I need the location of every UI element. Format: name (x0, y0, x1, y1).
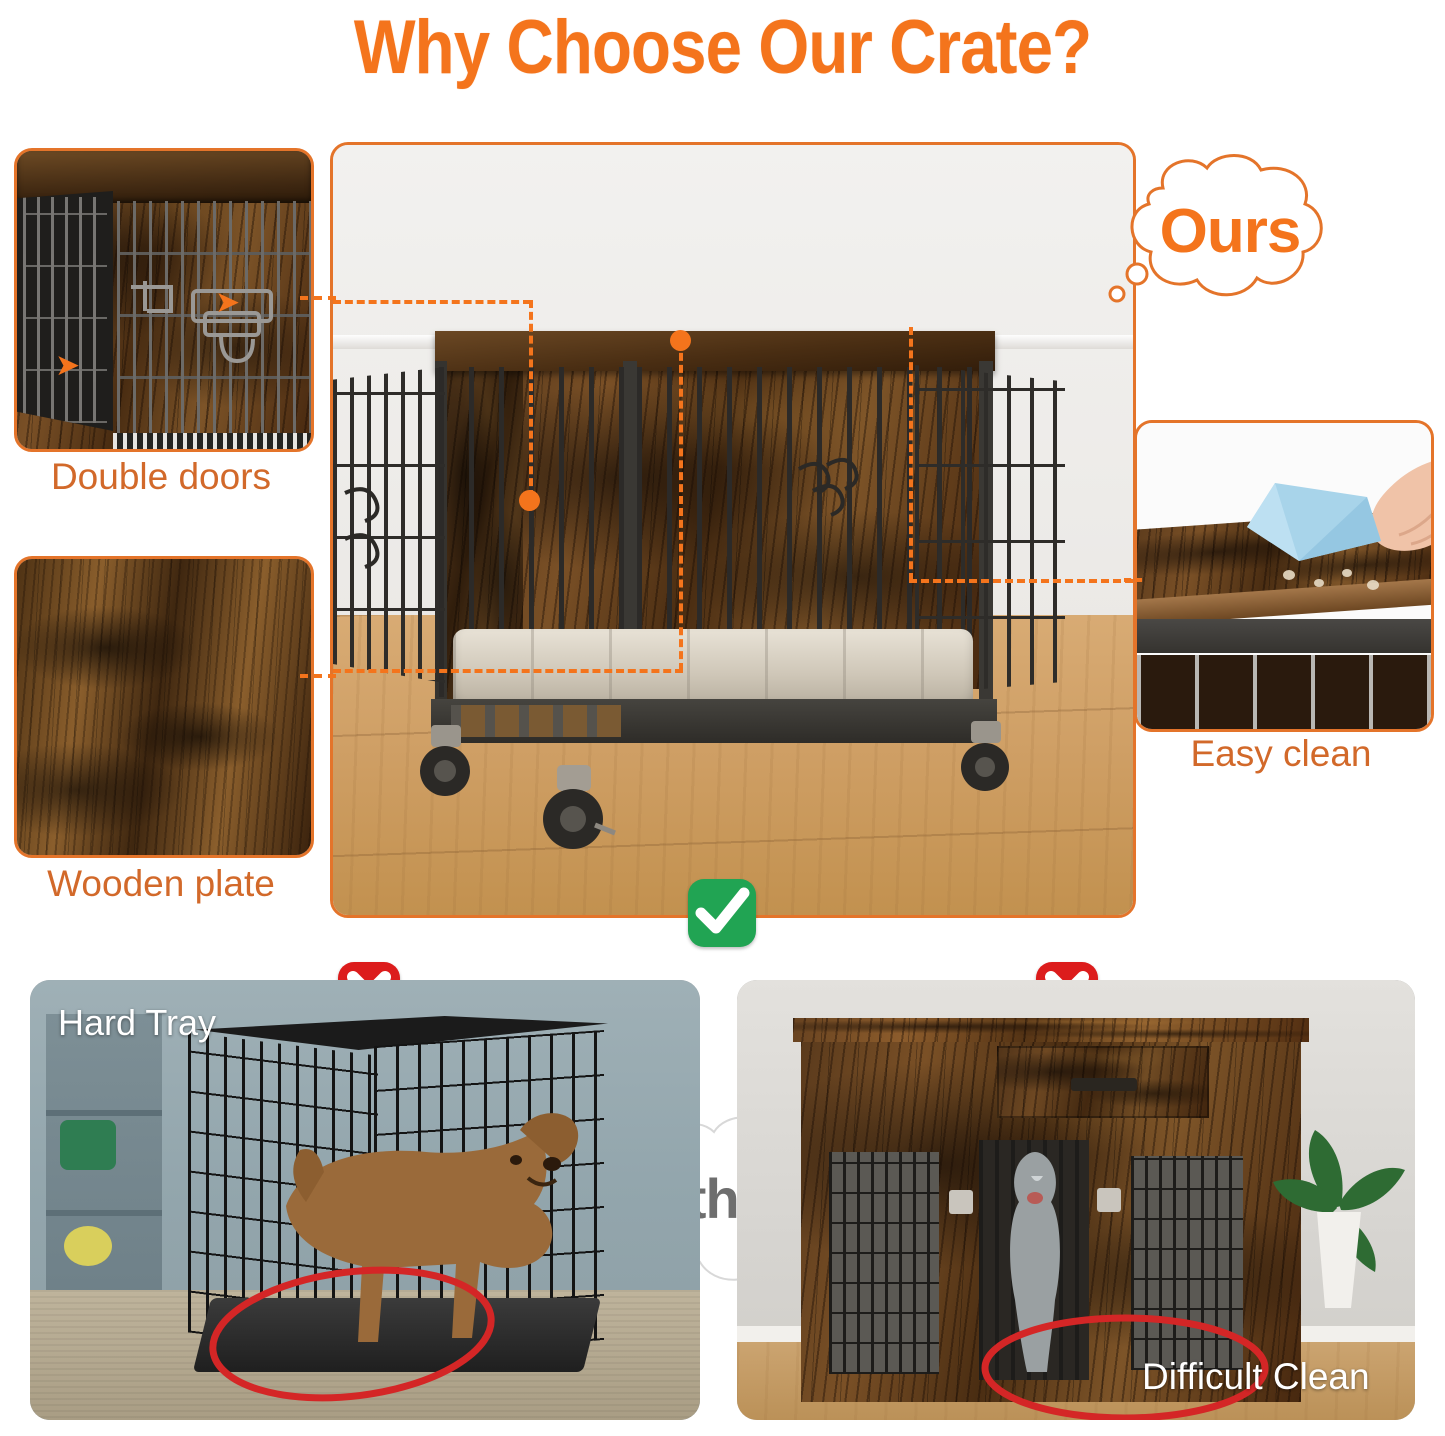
wood-grain-texture (17, 559, 311, 855)
ours-bubble-label: Ours (1140, 196, 1320, 267)
green-check-badge (688, 879, 756, 947)
frame-rail (1137, 619, 1431, 653)
connector-wooden-plate-link (300, 674, 336, 678)
connector-top-vertical (529, 300, 533, 498)
label-hard-tray: Hard Tray (58, 1002, 216, 1044)
left-door-mesh (23, 197, 107, 423)
left-door-frame (17, 191, 113, 431)
left-open-door (333, 367, 445, 683)
latch-hook-icon (125, 277, 195, 321)
caption-wooden-plate: Wooden plate (8, 862, 314, 906)
drawer-handle-icon (1071, 1078, 1137, 1091)
feature-panel-easy-clean (1134, 420, 1434, 732)
caption-easy-clean: Easy clean (1128, 732, 1434, 776)
cabinet-drawer (997, 1046, 1209, 1118)
connector-dot-door (519, 490, 540, 511)
pointer-arrow-right-icon: ➤ (215, 288, 240, 318)
shelf-unit (46, 1014, 162, 1324)
feature-panel-double-doors: ➤ ➤ (14, 148, 314, 452)
left-door-mesh (829, 1152, 939, 1374)
shelf-item-flower (64, 1226, 112, 1266)
comparison-panel-wood-cabinet (737, 980, 1415, 1420)
comparison-panel-wire-crate (30, 980, 700, 1420)
lower-grate (1137, 655, 1431, 729)
shelf-divider (46, 1210, 162, 1216)
connector-double-doors-link (300, 296, 336, 300)
connector-bottom-horizontal (333, 669, 683, 673)
cleaning-cloth-icon (1241, 475, 1391, 571)
water-droplets-icon (1277, 565, 1397, 599)
crate-assembly (375, 331, 995, 761)
connector-right-horizontal (909, 579, 1133, 583)
hinge-icon (1097, 1188, 1121, 1212)
front-door-frame (117, 201, 311, 441)
right-latch-hooks-icon (789, 449, 879, 529)
red-ellipse-annotation (202, 1260, 502, 1410)
cabinet-top (793, 1018, 1309, 1042)
label-difficult-clean: Difficult Clean (1142, 1356, 1370, 1398)
hinge-icon (949, 1190, 973, 1214)
connector-top-horizontal (333, 300, 531, 304)
page-title: Why Choose Our Crate? (101, 4, 1344, 92)
caster-wheel-right-icon (949, 721, 1027, 797)
feature-panel-wooden-plate (14, 556, 314, 858)
crate-base-grate (113, 433, 311, 449)
shelf-item-plant (60, 1120, 116, 1170)
connector-mid-vertical (679, 341, 683, 671)
hero-product-photo (330, 142, 1136, 918)
potted-plant-icon (1257, 1088, 1415, 1318)
caster-wheel-front-icon (531, 765, 621, 853)
checkmark-icon (688, 879, 756, 947)
left-door-latch-icon (337, 477, 397, 597)
connector-right-vertical (909, 327, 913, 581)
pointer-arrow-left-icon: ➤ (55, 351, 80, 381)
caster-wheel-left-icon (409, 725, 487, 801)
shelf-divider (46, 1110, 162, 1116)
connector-easy-clean-link (1124, 578, 1142, 582)
caption-double-doors: Double doors (8, 455, 314, 499)
